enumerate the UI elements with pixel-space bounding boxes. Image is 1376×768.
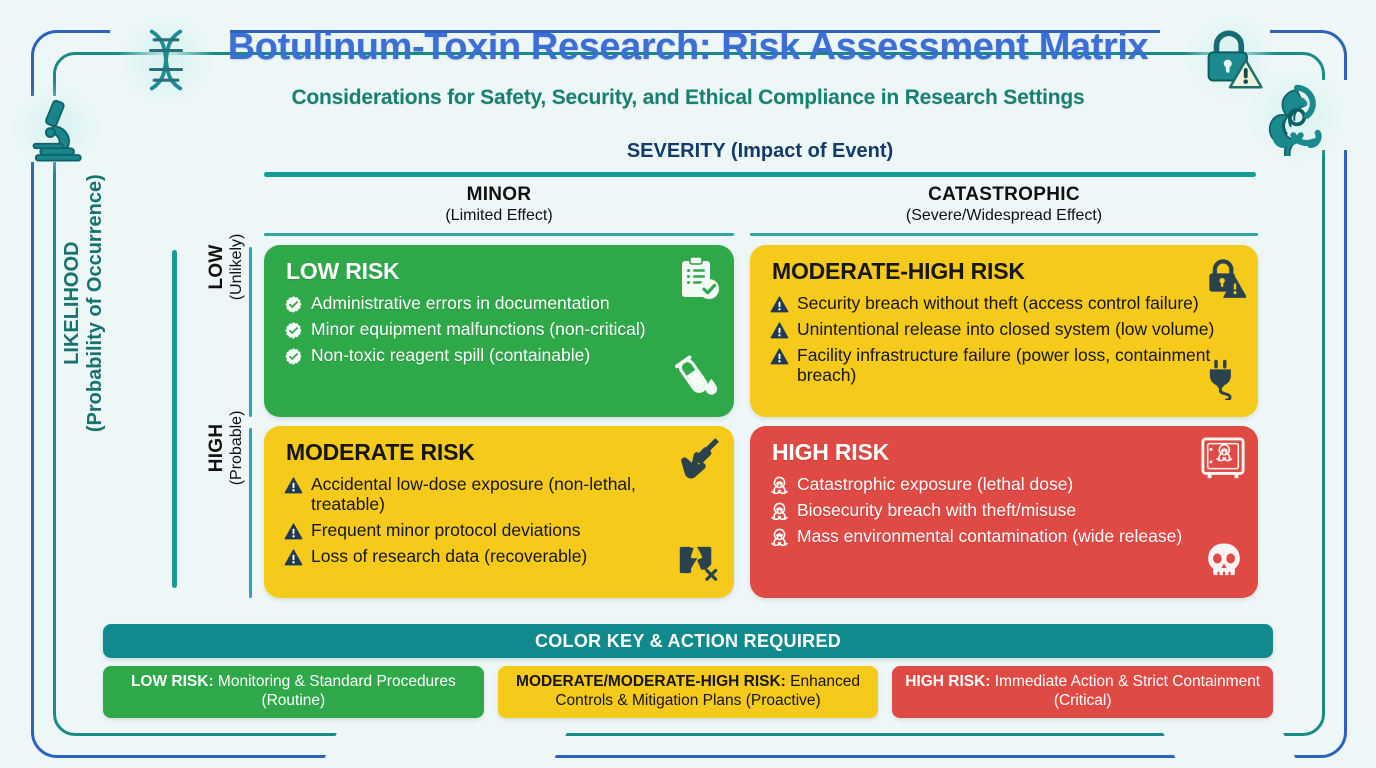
matrix-cell-high-risk-items: Catastrophic exposure (lethal dose) Bios… (770, 474, 1238, 552)
severity-column-rule-minor (264, 233, 734, 236)
list-item: Biosecurity breach with theft/misuse (770, 500, 1238, 521)
list-item-text: Biosecurity breach with theft/misuse (797, 500, 1076, 520)
legend-card-high-risk[interactable]: HIGH RISK: Immediate Action & Strict Con… (892, 666, 1273, 718)
severity-column-minor-label: MINOR (264, 184, 734, 206)
legend-card-moderate-risk-label: MODERATE/MODERATE-HIGH RISK: (516, 673, 786, 690)
infographic-canvas: Botulinum-Toxin Research: Risk Assessmen… (0, 0, 1376, 768)
matrix-cell-low-risk[interactable]: LOW RISK Administrative errors in docume… (264, 245, 734, 417)
list-item: Facility infrastructure failure (power l… (770, 345, 1230, 386)
biohazard-icon (770, 476, 789, 495)
list-item: Accidental low-dose exposure (non-lethal… (284, 474, 704, 515)
skull-icon (1204, 541, 1244, 586)
matrix-cell-low-risk-items: Administrative errors in documentation M… (284, 293, 714, 371)
list-item-text: Catastrophic exposure (lethal dose) (797, 474, 1073, 494)
warning-triangle-icon (770, 347, 789, 366)
likelihood-axis-title-line2: (Probability of Occurrence) (84, 174, 106, 432)
list-item: Frequent minor protocol deviations (284, 520, 704, 541)
likelihood-row-high-sub: (Probable) (228, 411, 245, 486)
frame-notch-bottom-right (1160, 726, 1300, 768)
likelihood-row-high-label: HIGH (206, 424, 227, 473)
likelihood-axis-title-line1: LIKELIHOOD (61, 242, 83, 365)
legend-card-high-risk-label: HIGH RISK: (905, 673, 990, 690)
severity-axis-title: SEVERITY (Impact of Event) (264, 140, 1256, 163)
legend-bar: COLOR KEY & ACTION REQUIRED (103, 624, 1273, 658)
severity-column-catastrophic-label: CATASTROPHIC (750, 184, 1258, 206)
power-plug-icon (1202, 358, 1244, 405)
check-badge-icon (284, 295, 303, 314)
legend-card-moderate-risk[interactable]: MODERATE/MODERATE-HIGH RISK: Enhanced Co… (498, 666, 879, 718)
matrix-cell-moderate-high-risk-items: Security breach without theft (access co… (770, 293, 1230, 391)
likelihood-row-rule-low (249, 247, 252, 417)
list-item-text: Loss of research data (recoverable) (311, 546, 587, 566)
list-item: Catastrophic exposure (lethal dose) (770, 474, 1238, 495)
warning-triangle-icon (284, 476, 303, 495)
severity-column-catastrophic: CATASTROPHIC (Severe/Widespread Effect) (750, 184, 1258, 225)
list-item-text: Administrative errors in documentation (311, 293, 610, 313)
list-item-text: Unintentional release into closed system… (797, 319, 1214, 339)
legend-bar-title: COLOR KEY & ACTION REQUIRED (535, 631, 841, 652)
list-item-text: Facility infrastructure failure (power l… (797, 345, 1230, 386)
lock-warning-icon (1202, 255, 1246, 304)
severity-rule (264, 172, 1256, 177)
warning-triangle-icon (770, 295, 789, 314)
likelihood-axis-title: LIKELIHOOD (Probability of Occurrence) (61, 153, 107, 453)
matrix-cell-moderate-risk-heading: MODERATE RISK (286, 439, 475, 466)
page-title: Botulinum-Toxin Research: Risk Assessmen… (0, 26, 1376, 69)
matrix-cell-moderate-high-risk-heading: MODERATE-HIGH RISK (772, 258, 1025, 285)
biohazard-icon (770, 528, 789, 547)
legend-card-low-risk-text: Monitoring & Standard Procedures (Routin… (214, 673, 456, 709)
list-item-text: Mass environmental contamination (wide r… (797, 526, 1182, 546)
likelihood-row-rule-high (249, 428, 252, 598)
legend-card-high-risk-text: Immediate Action & Strict Containment (C… (990, 673, 1260, 709)
list-item-text: Non-toxic reagent spill (containable) (311, 345, 590, 365)
matrix-cell-moderate-high-risk[interactable]: MODERATE-HIGH RISK Security breach witho… (750, 245, 1258, 417)
likelihood-row-low-sub: (Unlikely) (228, 234, 245, 301)
severity-column-catastrophic-sub: (Severe/Widespread Effect) (750, 207, 1258, 225)
likelihood-row-low-label: LOW (206, 244, 227, 289)
list-item: Security breach without theft (access co… (770, 293, 1230, 314)
legend-card-low-risk-label: LOW RISK: (131, 673, 214, 690)
matrix-cell-moderate-risk-items: Accidental low-dose exposure (non-lethal… (284, 474, 704, 572)
biohazard-icon (770, 502, 789, 521)
frame-notch-bottom-left (320, 726, 570, 768)
matrix-cell-moderate-risk[interactable]: MODERATE RISK Accidental low-dose exposu… (264, 426, 734, 598)
legend-cards: LOW RISK: Monitoring & Standard Procedur… (103, 666, 1273, 718)
warning-triangle-icon (284, 522, 303, 541)
matrix-cell-high-risk-heading: HIGH RISK (772, 439, 889, 466)
warning-triangle-icon (770, 321, 789, 340)
legend-card-low-risk[interactable]: LOW RISK: Monitoring & Standard Procedur… (103, 666, 484, 718)
list-item-text: Accidental low-dose exposure (non-lethal… (311, 474, 704, 515)
gloved-hand-pipette-icon (676, 436, 722, 487)
page-subtitle: Considerations for Safety, Security, and… (0, 86, 1376, 110)
severity-column-minor: MINOR (Limited Effect) (264, 184, 734, 225)
test-tube-droplet-icon (674, 354, 720, 405)
list-item: Administrative errors in documentation (284, 293, 714, 314)
list-item: Unintentional release into closed system… (770, 319, 1230, 340)
matrix-cell-low-risk-heading: LOW RISK (286, 258, 399, 285)
list-item-text: Minor equipment malfunctions (non-critic… (311, 319, 646, 339)
severity-column-minor-sub: (Limited Effect) (264, 207, 734, 225)
list-item: Minor equipment malfunctions (non-critic… (284, 319, 714, 340)
check-badge-icon (284, 347, 303, 366)
check-badge-icon (284, 321, 303, 340)
warning-triangle-icon (284, 548, 303, 567)
list-item: Loss of research data (recoverable) (284, 546, 704, 567)
broken-data-icon (678, 539, 720, 586)
list-item-text: Security breach without theft (access co… (797, 293, 1199, 313)
list-item: Mass environmental contamination (wide r… (770, 526, 1238, 547)
severity-column-rule-catastrophic (750, 233, 1258, 236)
list-item: Non-toxic reagent spill (containable) (284, 345, 714, 366)
matrix-cell-high-risk[interactable]: HIGH RISK Catastrophic exposure (lethal … (750, 426, 1258, 598)
biohazard-safe-icon (1200, 436, 1246, 487)
list-item-text: Frequent minor protocol deviations (311, 520, 580, 540)
clipboard-check-icon (674, 255, 722, 308)
